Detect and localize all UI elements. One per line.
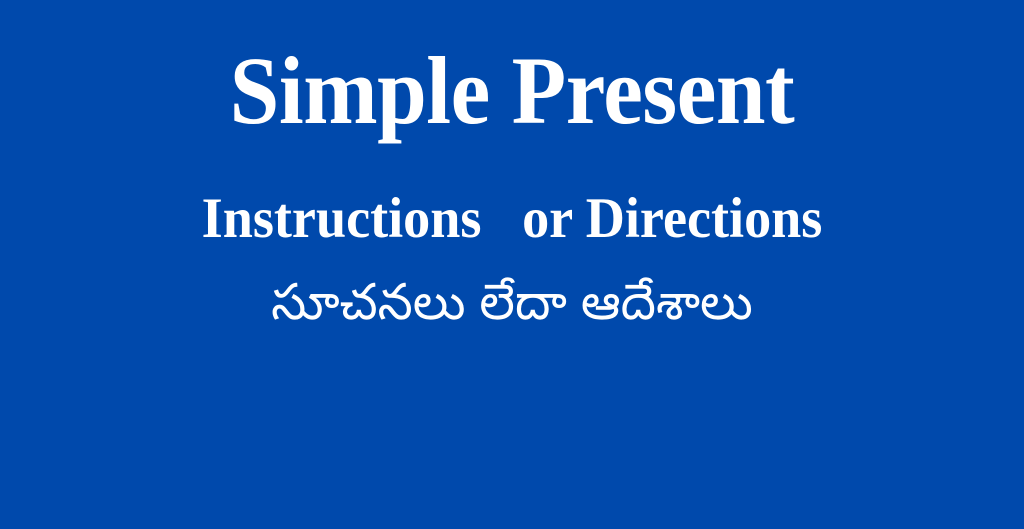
presentation-slide: Simple Present Instructions or Direction… (0, 0, 1024, 529)
slide-subtitle: Instructions or Directions (26, 186, 999, 252)
slide-subtitle-translation-telugu: సూచనలు లేదా ఆదేశాలు (0, 268, 1024, 336)
page-title: Simple Present (36, 36, 988, 146)
